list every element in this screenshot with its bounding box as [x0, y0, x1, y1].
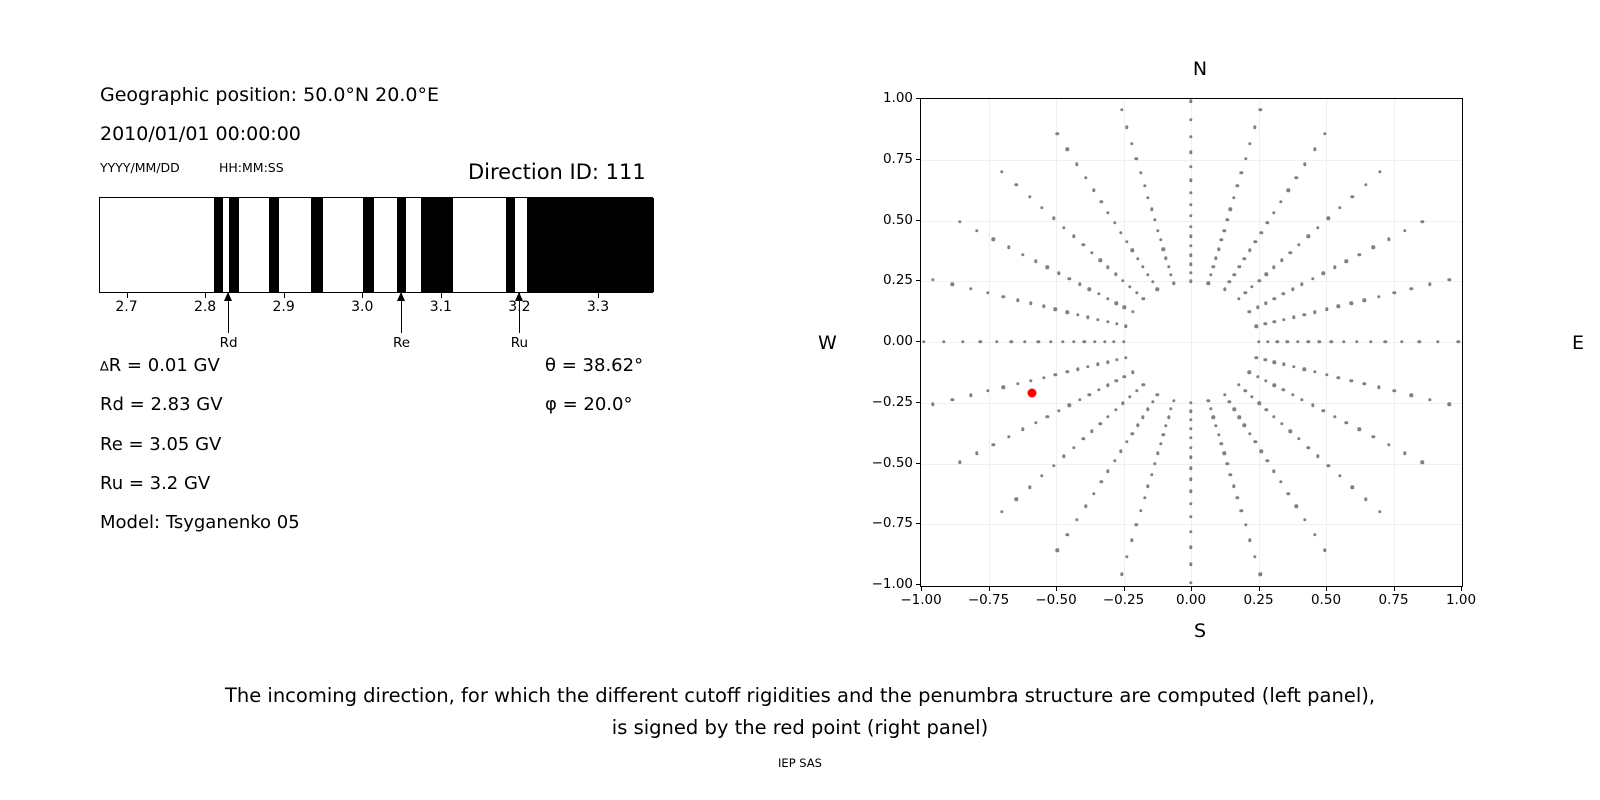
figure-caption: The incoming direction, for which the di… [0, 680, 1600, 744]
sky-map-direction-point [1209, 273, 1212, 276]
sky-map-direction-point [1337, 305, 1340, 308]
sky-map-direction-point [1112, 340, 1115, 343]
delta-r-text: R = 0.01 GV [109, 355, 220, 376]
sky-map-direction-point [1237, 415, 1240, 418]
date-format-hint: YYYY/MM/DD [100, 160, 180, 175]
sky-map-direction-point [1189, 100, 1192, 103]
sky-map-direction-point [1387, 443, 1390, 446]
sky-map-direction-point [1403, 229, 1406, 232]
sky-map-direction-point [1106, 415, 1109, 418]
sky-map-direction-point [1358, 253, 1361, 256]
sky-map-direction-point [1084, 176, 1087, 179]
penumbra-band-chart [99, 197, 653, 293]
penumbra-axis-tick-label: 3.3 [587, 299, 609, 315]
sky-map-direction-point [1384, 340, 1387, 343]
sky-map-x-tick-label: 0.00 [1176, 592, 1206, 608]
sky-map-direction-point [1189, 546, 1192, 549]
sky-map-direction-point [1172, 282, 1175, 285]
sky-map-direction-point [1189, 235, 1192, 238]
sky-map-direction-point [1254, 325, 1257, 328]
sky-map-direction-point [1257, 340, 1260, 343]
penumbra-forbidden-band [506, 198, 515, 292]
datetime-label: 2010/01/01 00:00:00 [100, 123, 301, 145]
arrow-up-icon [401, 293, 403, 333]
sky-map-direction-point [969, 287, 972, 290]
sky-map-direction-point [1236, 184, 1239, 187]
sky-map-direction-point [1321, 409, 1324, 412]
sky-map-direction-point [1410, 393, 1413, 396]
sky-map-direction-point [1084, 504, 1087, 507]
sky-map-direction-point [1000, 170, 1003, 173]
penumbra-axis-tick-label: 3.1 [430, 299, 452, 315]
sky-map-plot-area [920, 98, 1463, 587]
penumbra-marker-label: Ru [504, 335, 534, 351]
sky-map-direction-point [1143, 184, 1146, 187]
sky-map-direction-point [1056, 549, 1059, 552]
sky-map-direction-point [1156, 229, 1159, 232]
delta-symbol: ∆ [100, 360, 109, 375]
sky-map-direction-point [1313, 370, 1316, 373]
sky-map-x-tick-label: −0.75 [968, 592, 1009, 608]
sky-map-direction-point [1092, 492, 1095, 495]
sky-map-direction-point [1125, 126, 1128, 129]
sky-map-direction-point [1229, 208, 1232, 211]
sky-map-direction-point [1248, 142, 1251, 145]
sky-map-direction-point [1034, 421, 1037, 424]
sky-map-direction-point [1099, 259, 1102, 262]
sky-map-direction-point [1316, 455, 1319, 458]
sky-map-direction-point [1164, 257, 1167, 260]
penumbra-forbidden-band [311, 198, 323, 292]
sky-map-direction-point [1410, 287, 1413, 290]
phi-value: φ = 20.0° [545, 394, 632, 415]
sky-map-direction-point [975, 229, 978, 232]
sky-map-direction-point [1045, 266, 1048, 269]
sky-map-direction-point [1244, 291, 1247, 294]
sky-map-direction-point [1090, 430, 1093, 433]
sky-map-y-tick [916, 402, 921, 403]
sky-map-direction-point [1232, 273, 1235, 276]
sky-map-direction-point [1146, 196, 1149, 199]
sky-map-direction-point [1228, 280, 1231, 283]
sky-map-x-tick [1056, 586, 1057, 591]
sky-map-direction-point [1075, 518, 1078, 521]
sky-map-direction-point [1189, 118, 1192, 121]
sky-map-direction-point [1028, 195, 1031, 198]
direction-id-label: Direction ID: 111 [468, 160, 646, 184]
sky-map-direction-point [1264, 322, 1267, 325]
penumbra-axis-tick [362, 293, 363, 298]
sky-map-direction-point [1209, 407, 1212, 410]
sky-map-direction-point [1237, 297, 1240, 300]
sky-map-direction-point [1156, 393, 1159, 396]
sky-map-direction-point [1045, 415, 1048, 418]
sky-map-x-tick [989, 586, 990, 591]
sky-map-direction-point [1028, 485, 1031, 488]
sky-map-direction-point [1254, 356, 1257, 359]
sky-map-direction-point [1162, 248, 1165, 251]
sky-map-direction-point [1189, 581, 1192, 584]
sky-map-x-tick-label: −1.00 [900, 592, 941, 608]
sky-map-direction-point [1189, 418, 1192, 421]
sky-map-gridline-horizontal [921, 342, 1462, 343]
delta-r-value: ∆R = 0.01 GV [100, 355, 220, 376]
sky-map-direction-point [1212, 415, 1215, 418]
sky-map-direction-point [1330, 340, 1333, 343]
sky-map-y-tick-label: −0.50 [855, 455, 913, 471]
sky-map-direction-point [1068, 277, 1071, 280]
sky-map-direction-point [975, 451, 978, 454]
sky-map-direction-point [1428, 398, 1431, 401]
sky-map-direction-point [1114, 408, 1117, 411]
sky-map-direction-point [1358, 428, 1361, 431]
sky-map-direction-point [1338, 474, 1341, 477]
sky-map-direction-point [1273, 360, 1276, 363]
sky-map-direction-point [1169, 407, 1172, 410]
sky-map-direction-point [1115, 322, 1118, 325]
sky-map-x-tick [1461, 586, 1462, 591]
sky-map-direction-point [1097, 388, 1100, 391]
sky-map-direction-point [1076, 313, 1079, 316]
sky-map-direction-point [1106, 360, 1109, 363]
sky-map-y-tick [916, 280, 921, 281]
sky-map-y-tick-label: 0.25 [855, 272, 913, 288]
sky-map-direction-point [1114, 379, 1117, 382]
sky-map-direction-point [1189, 203, 1192, 206]
sky-map-direction-point [1002, 386, 1005, 389]
sky-map-direction-point [1124, 356, 1127, 359]
sky-map-direction-point [1325, 373, 1328, 376]
sky-map-direction-point [1400, 340, 1403, 343]
sky-map-direction-point [958, 220, 961, 223]
sky-map-direction-point [1214, 257, 1217, 260]
sky-map-direction-point [1062, 226, 1065, 229]
sky-map-direction-point [1266, 221, 1269, 224]
sky-map-direction-point [1189, 446, 1192, 449]
sky-map-direction-point [951, 283, 954, 286]
sky-map-direction-point [1119, 450, 1122, 453]
sky-map-direction-point [1295, 176, 1298, 179]
sky-map-direction-point [1124, 325, 1127, 328]
sky-map-direction-point [1447, 403, 1450, 406]
sky-map-direction-point [1034, 259, 1037, 262]
sky-map-y-tick-label: 0.50 [855, 212, 913, 228]
sky-map-direction-point [1040, 474, 1043, 477]
sky-map-direction-point [992, 443, 995, 446]
sky-map-direction-point [1265, 272, 1268, 275]
sky-map-direction-point [1167, 415, 1170, 418]
sky-map-direction-point [1289, 251, 1292, 254]
sky-map-direction-point [1282, 388, 1285, 391]
caption-line-1: The incoming direction, for which the di… [0, 680, 1600, 712]
sky-map-direction-point [1297, 437, 1300, 440]
sky-map-y-tick-label: 1.00 [855, 90, 913, 106]
compass-label-north: N [800, 58, 1600, 80]
sky-map-x-tick-label: −0.25 [1103, 592, 1144, 608]
sky-map-direction-point [1337, 376, 1340, 379]
sky-map-direction-point [1189, 467, 1192, 470]
sky-map-direction-point [1061, 340, 1064, 343]
sky-map-direction-point [1220, 442, 1223, 445]
sky-map-direction-point [1167, 265, 1170, 268]
sky-map-direction-point [1295, 504, 1298, 507]
sky-map-direction-point [1100, 200, 1103, 203]
theta-value: θ = 38.62° [545, 355, 643, 376]
penumbra-axis-tick [441, 293, 442, 298]
sky-map-direction-point [1042, 305, 1045, 308]
sky-map-direction-point [1113, 221, 1116, 224]
sky-map-direction-point [1282, 292, 1285, 295]
penumbra-forbidden-band [229, 198, 239, 292]
penumbra-marker-ru: Ru [504, 293, 534, 351]
sky-map-direction-point [1226, 462, 1229, 465]
sky-map-direction-point [1292, 315, 1295, 318]
sky-map-direction-point [1248, 432, 1251, 435]
sky-map-direction-point [1042, 376, 1045, 379]
sky-map-y-tick-label: 0.00 [855, 333, 913, 349]
geographic-position-label: Geographic position: 50.0°N 20.0°E [100, 84, 439, 106]
sky-map-direction-point [1146, 408, 1149, 411]
sky-map-direction-point [1237, 265, 1240, 268]
sky-map-direction-point [1139, 171, 1142, 174]
sky-map-direction-point [1393, 389, 1396, 392]
sky-map-direction-point [1096, 318, 1099, 321]
sky-map-direction-point [1088, 287, 1091, 290]
sky-map-direction-point [1377, 386, 1380, 389]
sky-map-direction-point [1266, 459, 1269, 462]
sky-map-direction-point [1327, 217, 1330, 220]
sky-map-direction-point [1072, 235, 1075, 238]
sky-map-direction-point [1088, 393, 1091, 396]
sky-map-direction-point [1136, 423, 1139, 426]
sky-map-x-tick-label: −0.50 [1035, 592, 1076, 608]
sky-map-direction-point [1057, 409, 1060, 412]
penumbra-axis: 2.72.82.93.03.13.23.3 [99, 293, 653, 305]
penumbra-forbidden-band [421, 198, 452, 292]
sky-map-direction-point [1436, 340, 1439, 343]
selected-direction-point[interactable] [1027, 389, 1036, 398]
sky-map-direction-point [1355, 340, 1358, 343]
sky-map-direction-point [1078, 283, 1081, 286]
sky-map-direction-point [1307, 340, 1310, 343]
sky-map-direction-point [1119, 231, 1122, 234]
sky-map-direction-point [1010, 340, 1013, 343]
sky-map-direction-point [1363, 382, 1366, 385]
sky-map-direction-point [1143, 496, 1146, 499]
sky-map-direction-point [1164, 424, 1167, 427]
sky-map-x-tick-label: 0.50 [1311, 592, 1341, 608]
sky-map-direction-point [1189, 244, 1192, 247]
sky-map-direction-point [1265, 408, 1268, 411]
rd-value: Rd = 2.83 GV [100, 394, 223, 415]
sky-map-direction-point [1086, 315, 1089, 318]
sky-map-direction-point [1189, 135, 1192, 138]
sky-map-direction-point [1351, 195, 1354, 198]
sky-map-direction-point [1369, 340, 1372, 343]
sky-map-direction-point [1214, 424, 1217, 427]
sky-map-direction-point [1250, 285, 1253, 288]
sky-map-direction-point [1049, 340, 1052, 343]
sky-map-direction-point [1090, 251, 1093, 254]
sky-map-direction-point [1189, 214, 1192, 217]
sky-map-x-tick-label: 0.75 [1378, 592, 1408, 608]
sky-map-direction-point [1189, 410, 1192, 413]
sky-map-direction-point [1114, 272, 1117, 275]
sky-map-y-tick-label: 0.75 [855, 151, 913, 167]
sky-map-direction-point [1363, 298, 1366, 301]
ru-value: Ru = 3.2 GV [100, 473, 210, 494]
sky-map-direction-point [1258, 108, 1261, 111]
sky-map-direction-point [1243, 423, 1246, 426]
sky-map-y-tick-label: −0.75 [855, 515, 913, 531]
sky-map-direction-point [1150, 473, 1153, 476]
sky-map-direction-point [1106, 266, 1109, 269]
sky-map-y-tick [916, 159, 921, 160]
arrow-up-icon [519, 293, 521, 333]
sky-map-direction-point [1131, 432, 1134, 435]
sky-map-direction-point [1264, 301, 1267, 304]
sky-map-direction-point [1189, 401, 1192, 404]
sky-map-x-tick [1326, 586, 1327, 591]
sky-map-direction-point [1153, 462, 1156, 465]
sky-map-direction-point [1303, 368, 1306, 371]
sky-map-direction-point [1421, 220, 1424, 223]
sky-map-direction-point [1156, 452, 1159, 455]
sky-map-direction-point [1106, 297, 1109, 300]
sky-map-direction-point [1316, 226, 1319, 229]
sky-map-direction-point [1159, 238, 1162, 241]
penumbra-axis-tick-label: 2.7 [115, 299, 137, 315]
sky-map-gridline-horizontal [921, 221, 1462, 222]
model-value: Model: Tsyganenko 05 [100, 512, 300, 533]
sky-map-direction-point [1223, 288, 1226, 291]
sky-map-direction-point [1057, 272, 1060, 275]
sky-map-direction-point [1313, 310, 1316, 313]
sky-map-direction-point [1189, 490, 1192, 493]
sky-map-direction-point [1217, 248, 1220, 251]
sky-map-y-tick-label: −1.00 [855, 576, 913, 592]
sky-map-direction-point [1311, 403, 1314, 406]
sky-map-direction-point [1141, 265, 1144, 268]
penumbra-marker-label: Re [387, 335, 417, 351]
sky-map-direction-point [1065, 370, 1068, 373]
sky-map-direction-point [1248, 539, 1251, 542]
sky-map-direction-point [1279, 200, 1282, 203]
sky-map-gridline-horizontal [921, 160, 1462, 161]
sky-map-direction-point [1272, 415, 1275, 418]
sky-map-direction-point [1244, 389, 1247, 392]
sky-map-direction-point [942, 340, 945, 343]
sky-map-direction-point [1189, 225, 1192, 228]
sky-map-direction-point [1106, 211, 1109, 214]
sky-map-direction-point [1142, 383, 1145, 386]
sky-map-direction-point [1307, 446, 1310, 449]
sky-map-direction-point [1189, 563, 1192, 566]
penumbra-forbidden-band [363, 198, 374, 292]
sky-map-direction-point [1189, 478, 1192, 481]
sky-map-direction-point [1128, 285, 1131, 288]
sky-map-direction-point [1142, 297, 1145, 300]
sky-map-direction-point [1232, 196, 1235, 199]
sky-map-direction-point [1100, 480, 1103, 483]
sky-map-direction-point [1007, 246, 1010, 249]
sky-map-direction-point [1229, 473, 1232, 476]
sky-map-direction-point [1075, 162, 1078, 165]
sky-map-direction-point [1364, 183, 1367, 186]
sky-map-direction-point [1023, 340, 1026, 343]
sky-map-direction-point [1296, 340, 1299, 343]
sky-map-direction-point [1029, 302, 1032, 305]
penumbra-axis-tick [284, 293, 285, 298]
sky-map-direction-point [1297, 243, 1300, 246]
sky-map-direction-point [1282, 363, 1285, 366]
sky-map-direction-point [1243, 257, 1246, 260]
sky-map-direction-point [1342, 340, 1345, 343]
sky-map-direction-point [1258, 573, 1261, 576]
sky-map-direction-point [1333, 415, 1336, 418]
sky-map-direction-point [1086, 365, 1089, 368]
sky-map-direction-point [1135, 523, 1138, 526]
penumbra-marker-label: Rd [214, 335, 244, 351]
sky-map-direction-point [1364, 498, 1367, 501]
sky-map-direction-point [969, 393, 972, 396]
sky-map-direction-point [1065, 310, 1068, 313]
sky-map-direction-point [1106, 320, 1109, 323]
sky-map-direction-point [1253, 555, 1256, 558]
sky-map-y-tick [916, 220, 921, 221]
sky-map-direction-point [1122, 340, 1125, 343]
sky-map-direction-point [1189, 191, 1192, 194]
sky-map-direction-point [1189, 456, 1192, 459]
sky-map-direction-point [1135, 291, 1138, 294]
sky-map-direction-point [1257, 402, 1260, 405]
sky-map-direction-point [1280, 259, 1283, 262]
sky-map-direction-point [1123, 306, 1126, 309]
sky-map-direction-point [1131, 249, 1134, 252]
sky-map-direction-point [1052, 464, 1055, 467]
sky-map-direction-point [1286, 189, 1289, 192]
sky-map-direction-point [1457, 340, 1460, 343]
sky-map-direction-point [1387, 238, 1390, 241]
sky-map-direction-point [992, 238, 995, 241]
sky-map-direction-point [1125, 440, 1128, 443]
sky-map-direction-point [1125, 555, 1128, 558]
sky-map-direction-point [1372, 246, 1375, 249]
sky-map-direction-point [1276, 340, 1279, 343]
sky-map-direction-point [1333, 266, 1336, 269]
sky-map-direction-point [1318, 340, 1321, 343]
sky-map-x-tick [1394, 586, 1395, 591]
compass-label-east: E [1572, 332, 1584, 354]
sky-map-direction-point [1248, 249, 1251, 252]
sky-map-direction-point [1015, 183, 1018, 186]
sky-map-direction-point [1078, 398, 1081, 401]
sky-map-direction-point [1021, 428, 1024, 431]
sky-map-direction-point [1259, 231, 1262, 234]
sky-map-direction-point [1189, 179, 1192, 182]
penumbra-forbidden-band [527, 198, 654, 292]
sky-map-direction-point [1220, 238, 1223, 241]
sky-map-direction-point [1372, 435, 1375, 438]
sky-map-direction-point [1250, 395, 1253, 398]
sky-map-direction-point [1189, 254, 1192, 257]
time-format-hint: HH:MM:SS [219, 160, 284, 175]
sky-map-direction-point [931, 403, 934, 406]
sky-map-direction-point [1189, 280, 1192, 283]
sky-map-direction-point [1146, 273, 1149, 276]
sky-map-direction-point [1021, 253, 1024, 256]
sky-map-direction-point [1300, 398, 1303, 401]
